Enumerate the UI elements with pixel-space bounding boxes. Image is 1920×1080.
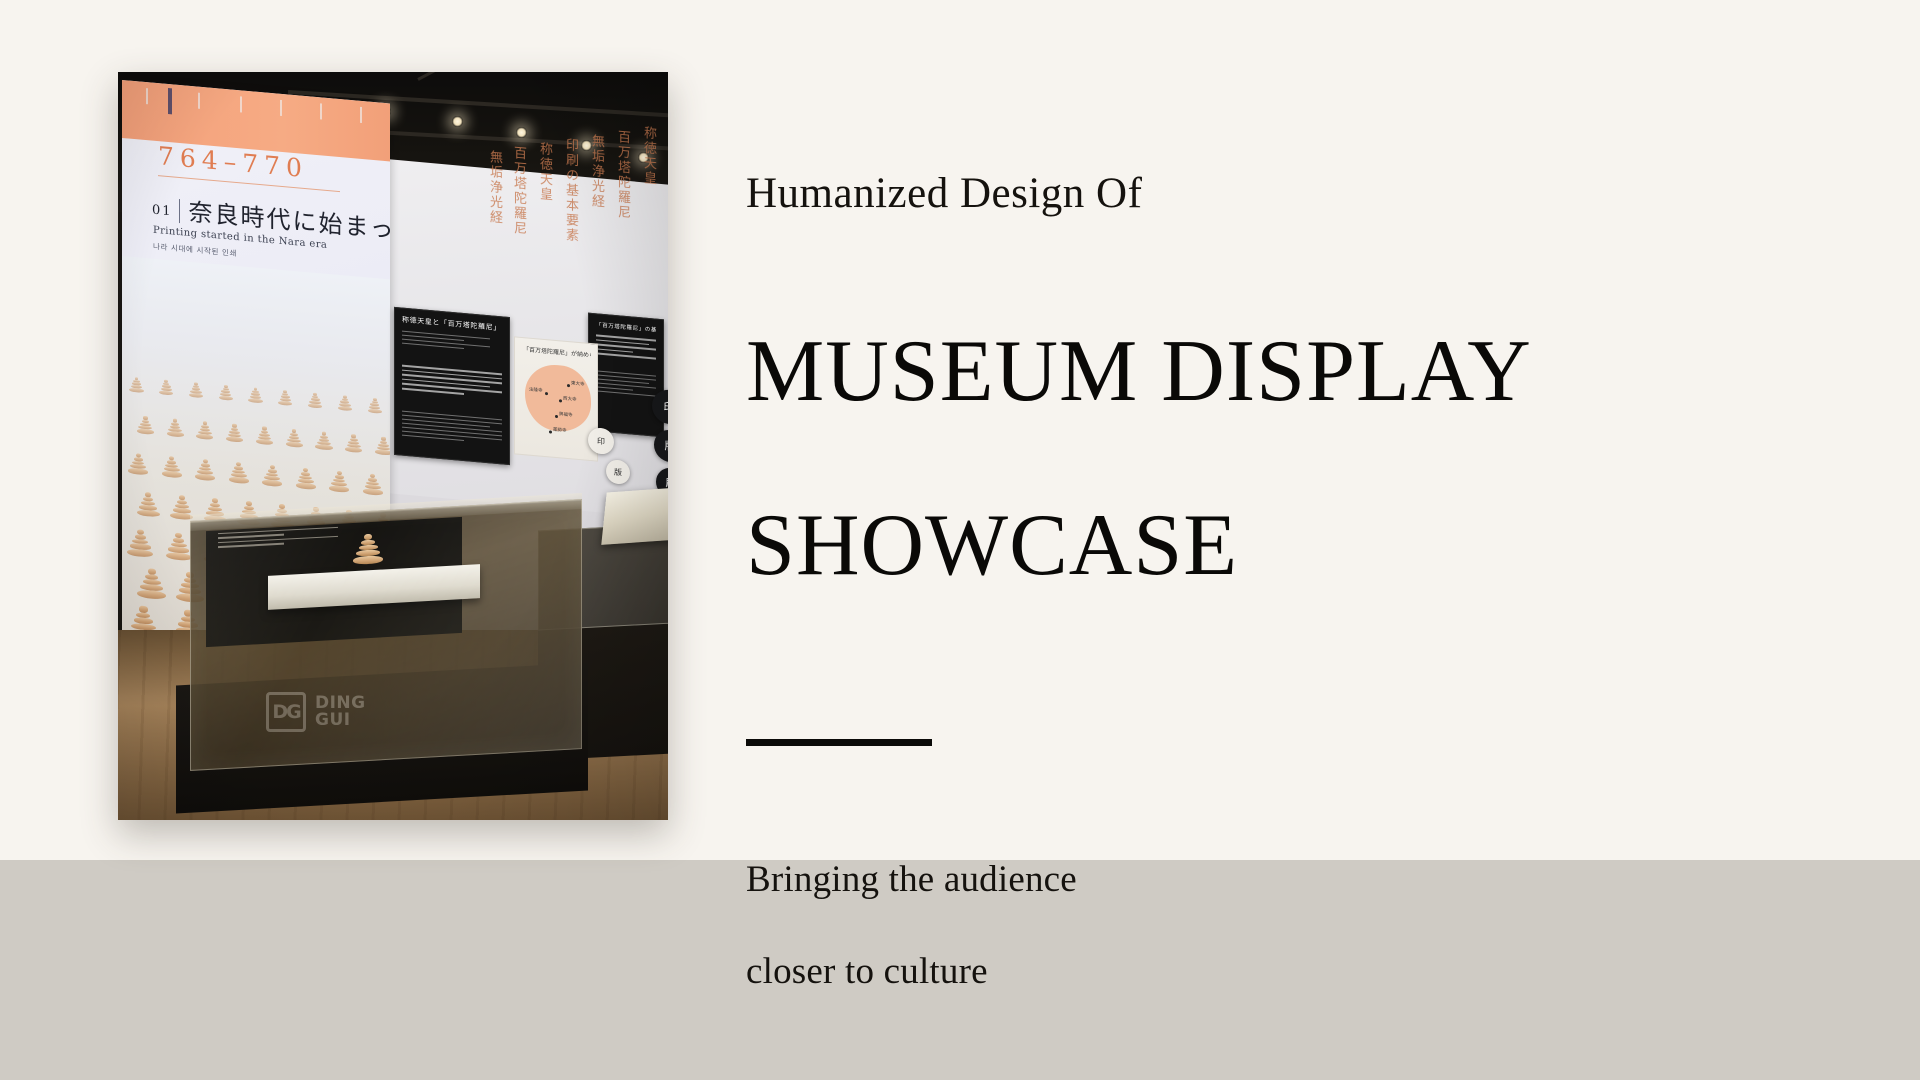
wall-calligraphy: 百万塔陀羅尼 [614,129,631,280]
subtitle-line-1: Bringing the audience [746,857,1796,903]
info-panel-body-en [402,411,502,448]
exhibit-info-panel: 称徳天皇と「百万塔陀羅尼」 [394,307,510,465]
photo-watermark: DG DING GUI [266,692,366,732]
headline-line-2: SHOWCASE [746,502,1796,589]
watermark-brand-line2: GUI [315,712,366,729]
watermark-brand: DING GUI [315,695,366,729]
info-panel-title: 「百万塔陀羅尼」の基本要素 [596,320,656,333]
wall-calligraphy: 称徳天皇 [536,141,553,290]
text-column: Humanized Design Of MUSEUM DISPLAY SHOWC… [746,172,1796,1041]
map-label: 東大寺 [571,380,585,387]
poster-subtitle-ko: 나라 시대에 시작된 인쇄 [153,241,237,259]
map-region-shape [525,362,591,434]
wall-calligraphy: 無垢浄光経 [486,149,503,300]
watermark-logo-icon: DG [266,692,306,732]
wall-calligraphy: 百万塔陀羅尼 [510,145,527,306]
secondary-case-artifact [601,487,668,545]
info-panel-title: 称徳天皇と「百万塔陀羅尼」 [402,315,502,334]
wall-calligraphy: 無垢浄光経 [588,133,605,274]
display-case-glass [190,499,582,771]
map-label: 薬師寺 [553,427,567,434]
map-panel-heading: 「百万塔陀羅尼」が納められた諸寺 [523,344,591,359]
exhibit-info-panel: 「百万塔陀羅尼」の基本要素 [588,313,664,438]
wall-calligraphy: 印刷の基本要素 [562,137,579,294]
poster-section-number: 01 [152,203,173,220]
map-label: 興福寺 [559,411,573,418]
info-panel-meta [402,331,502,356]
eyebrow-text: Humanized Design Of [746,172,1796,215]
ceiling-light-icon [516,127,527,138]
title-divider-rule [746,739,932,746]
exhibit-map-panel: 「百万塔陀羅尼」が納められた諸寺 東大寺 西大寺 法隆寺 興福寺 薬師寺 [514,336,598,461]
page-title: MUSEUM DISPLAY SHOWCASE [746,241,1796,677]
headline-line-1: MUSEUM DISPLAY [746,328,1796,415]
subtitle-text: Bringing the audience closer to culture [746,812,1796,1041]
map-label: 法隆寺 [529,387,543,394]
hero-photo: 無垢浄光経 百万塔陀羅尼 称徳天皇 印刷の基本要素 無垢浄光経 百万塔陀羅尼 称… [118,72,668,820]
map-label: 西大寺 [563,396,577,403]
ceiling-light-icon [452,116,463,127]
wall-calligraphy: 称徳天皇 [640,125,657,262]
subtitle-line-2: closer to culture [746,949,1796,995]
info-panel-body-en [596,370,656,399]
slide-root: 無垢浄光経 百万塔陀羅尼 称徳天皇 印刷の基本要素 無垢浄光経 百万塔陀羅尼 称… [0,0,1920,1080]
info-panel-body-jp [402,365,502,401]
info-panel-body-jp [596,334,656,362]
photo-scene: 無垢浄光経 百万塔陀羅尼 称徳天皇 印刷の基本要素 無垢浄光経 百万塔陀羅尼 称… [118,72,668,820]
